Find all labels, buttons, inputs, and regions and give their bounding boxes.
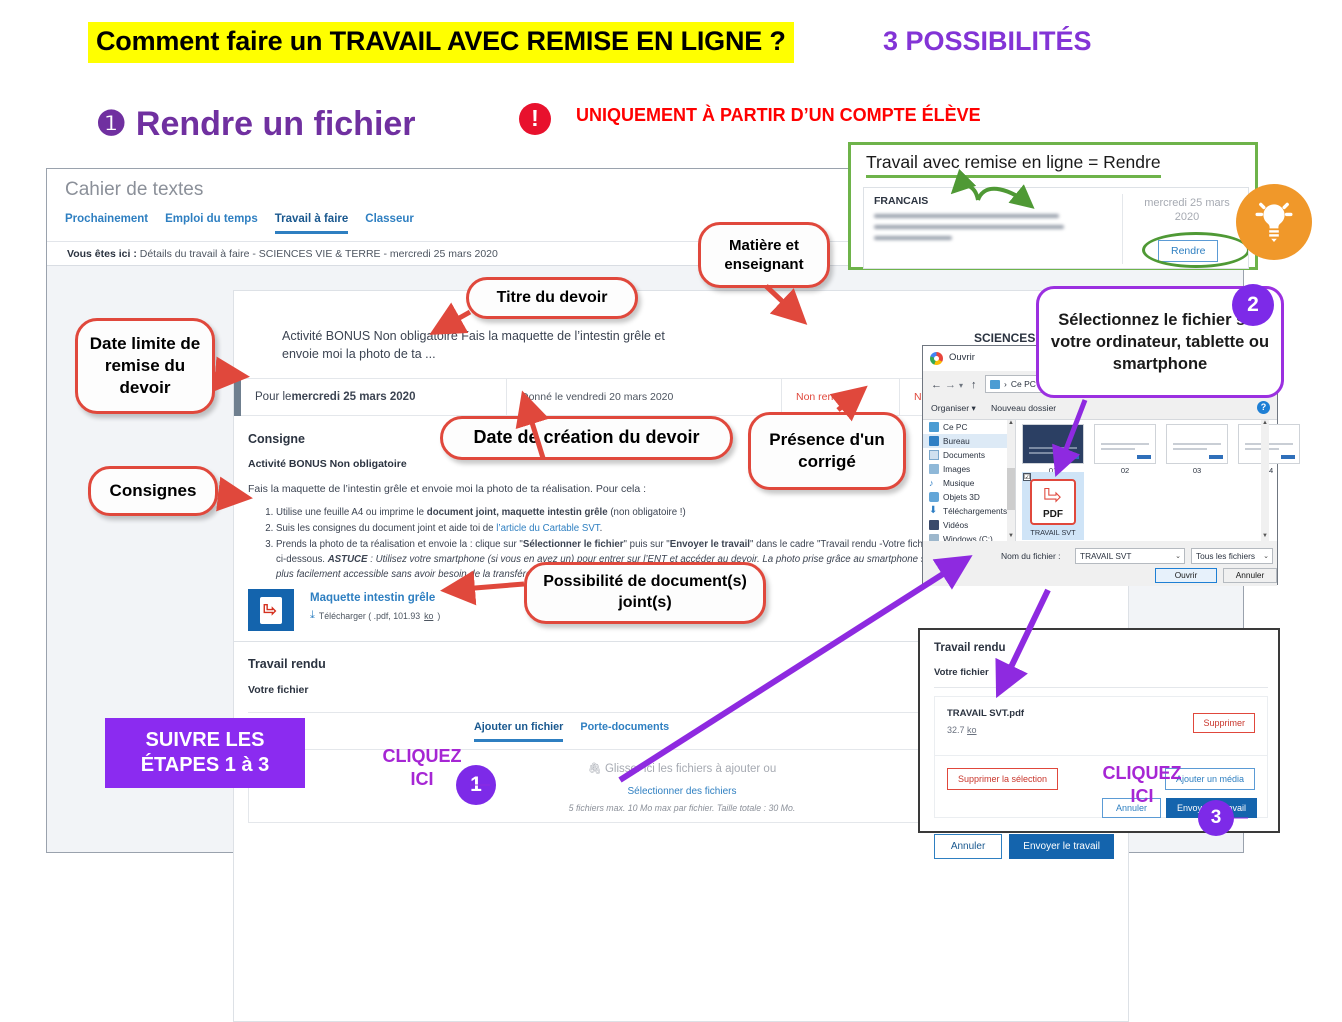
label: Vidéos: [943, 520, 968, 530]
label: Téléchargements: [943, 506, 1007, 516]
breadcrumb-path: Détails du travail à faire - SCIENCES VI…: [137, 248, 498, 260]
breadcrumb-label: Vous êtes ici :: [67, 248, 137, 260]
videos-icon: [929, 520, 939, 530]
consigne-item-2: Suis les consignes du document joint et …: [276, 521, 944, 536]
back-arrow-icon[interactable]: ←: [931, 379, 942, 391]
label: Musique: [943, 478, 974, 488]
documents-icon: [929, 450, 939, 460]
delete-selection-button[interactable]: Supprimer la sélection: [947, 768, 1058, 790]
dialog-body: Ce PC Bureau Documents Images ♪Musique O…: [923, 419, 1277, 541]
uploaded-file-size: 32.7 ko: [947, 725, 977, 735]
tab-ajouter-un-fichier[interactable]: Ajouter un fichier: [474, 721, 563, 742]
acrobat-glyph: ⏎: [1043, 484, 1061, 510]
images-icon: [929, 464, 939, 474]
address-sep: ›: [1004, 379, 1007, 389]
dialog-footer: Nom du fichier : TRAVAIL SVT ⌄ Tous les …: [923, 541, 1277, 586]
upload-tab-bar: Ajouter un fichier Porte-documents: [474, 721, 669, 742]
consigne-item-1: Utilise une feuille A4 ou imprime le doc…: [276, 505, 944, 520]
tree-item-videos[interactable]: Vidéos: [923, 518, 1015, 532]
suivre-etapes-box: SUIVRE LES ÉTAPES 1 à 3: [105, 718, 305, 788]
dialog-toolbar: Organiser ▾ Nouveau dossier ?: [923, 397, 1277, 419]
cancel-button[interactable]: Annuler: [1223, 568, 1277, 583]
thumbnail-row: 01 02 03 04: [1022, 424, 1300, 475]
callout-document-joint: Possibilité de document(s) joint(s): [524, 562, 766, 624]
label: Images: [943, 464, 970, 474]
due-date-cell: Pour le mercredi 25 mars 2020: [241, 378, 506, 416]
callout-consignes: Consignes: [88, 466, 218, 516]
ent-tab-bar: Prochainement Emploi du temps Travail à …: [65, 213, 414, 234]
filetype-value: Tous les fichiers: [1196, 551, 1255, 561]
computer-icon: [990, 380, 1000, 389]
t: Prends la photo de ta réalisation et env…: [276, 539, 523, 550]
desktop-icon: [929, 436, 939, 446]
chrome-icon: [930, 352, 943, 365]
help-icon[interactable]: ?: [1257, 401, 1270, 414]
attachment-meta: Maquette intestin grêle ⤓ Télécharger ( …: [310, 589, 440, 622]
thumbnail-caption: 04: [1238, 466, 1300, 475]
filename-input[interactable]: TRAVAIL SVT ⌄: [1075, 548, 1185, 564]
attachment-row[interactable]: Maquette intestin grêle ⤓ Télécharger ( …: [248, 589, 440, 631]
selected-file-row: ☑ ⏎ PDF TRAVAIL SVT: [1022, 472, 1084, 540]
cancel-button[interactable]: Annuler: [934, 834, 1002, 859]
tree-item-bureau[interactable]: Bureau: [923, 434, 1015, 448]
lightbulb-icon: [1236, 184, 1312, 260]
forward-arrow-icon[interactable]: →: [945, 379, 956, 391]
tree-item-ce-pc[interactable]: Ce PC: [923, 420, 1015, 434]
file-item-travail-svt[interactable]: ☑ ⏎ PDF TRAVAIL SVT: [1022, 472, 1084, 540]
uploaded-file-name: TRAVAIL SVT.pdf: [947, 708, 1024, 719]
organiser-menu[interactable]: Organiser ▾: [931, 403, 976, 414]
callout-date-limite: Date limite de remise du devoir: [75, 318, 215, 414]
cliquez-ici-label-1: CLIQUEZ ICI: [370, 745, 474, 790]
consigne-intro: Fais la maquette de l’intestin grêle et …: [248, 483, 646, 495]
folder-tree: Ce PC Bureau Documents Images ♪Musique O…: [923, 420, 1015, 542]
tab-porte-documents[interactable]: Porte-documents: [580, 721, 669, 742]
paperclip-icon: 🖇: [588, 763, 602, 775]
size-unit: ko: [967, 725, 977, 735]
scroll-up-icon[interactable]: ▲: [1261, 420, 1269, 426]
step-badge-2: 2: [1232, 284, 1274, 326]
page-title-row: Comment faire un TRAVAIL AVEC REMISE EN …: [88, 22, 1268, 68]
pdf-file-icon: [248, 589, 294, 631]
green-box-label: Travail avec remise en ligne = Rendre: [866, 152, 1161, 178]
tree-item-objets-3d[interactable]: Objets 3D: [923, 490, 1015, 504]
devoir-title: Activité BONUS Non obligatoire Fais la m…: [282, 327, 672, 363]
panel-heading: Travail rendu: [934, 642, 1006, 654]
cartable-svt-link[interactable]: l’article du Cartable SVT: [496, 523, 599, 534]
due-date: mercredi 25 mars 2020: [291, 391, 415, 403]
t: .: [600, 523, 603, 534]
cliquez-ici-label-3: CLIQUEZ ICI: [1090, 762, 1194, 807]
travail-rendu-heading: Travail rendu: [248, 657, 326, 671]
nouveau-dossier-button[interactable]: Nouveau dossier: [991, 403, 1056, 413]
computer-icon: [929, 422, 939, 432]
mini-devoir-card: FRANCAIS mercredi 25 mars 2020 Rendre: [863, 187, 1249, 269]
pdf-badge: PDF: [1043, 509, 1063, 520]
blurred-text-placeholder: [874, 214, 1069, 247]
t: Sélectionner le fichier: [523, 539, 624, 550]
dialog-title: Ouvrir: [949, 352, 975, 363]
tab-classeur[interactable]: Classeur: [365, 213, 414, 234]
callout-date-creation: Date de création du devoir: [440, 416, 733, 460]
t: (non obligatoire !): [608, 507, 686, 518]
label: Objets 3D: [943, 492, 980, 502]
mini-date: mercredi 25 mars 2020: [1132, 196, 1242, 225]
tree-item-documents[interactable]: Documents: [923, 448, 1015, 462]
pdf-file-icon: ⏎ PDF: [1030, 479, 1076, 525]
filetype-select[interactable]: Tous les fichiers ⌄: [1191, 548, 1273, 564]
app-title: Cahier de textes: [65, 179, 203, 201]
t: Utilise une feuille A4 ou imprime le: [276, 507, 427, 518]
tab-emploi-du-temps[interactable]: Emploi du temps: [165, 213, 258, 234]
download-icon: ⤓: [310, 609, 315, 622]
address-text: Ce PC: [1011, 379, 1036, 389]
delete-file-button[interactable]: Supprimer: [1193, 713, 1255, 733]
callout-matiere: Matière et enseignant: [698, 222, 830, 288]
divider: [934, 687, 1268, 688]
warning-text: UNIQUEMENT À PARTIR D’UN COMPTE ÉLÈVE: [576, 105, 981, 126]
page-title: Comment faire un TRAVAIL AVEC REMISE EN …: [88, 22, 794, 63]
file-thumbnail[interactable]: 02: [1094, 424, 1156, 475]
warning-icon: !: [519, 103, 551, 135]
objects3d-icon: [929, 492, 939, 502]
tree-item-musique[interactable]: ♪Musique: [923, 476, 1015, 490]
downloads-icon: ⬇: [929, 506, 939, 516]
t: " puis sur ": [624, 539, 670, 550]
download-label: Télécharger ( .pdf, 101.93: [319, 611, 420, 621]
file-thumbnail[interactable]: 01: [1022, 424, 1084, 475]
scroll-down-icon[interactable]: ▼: [1261, 533, 1269, 539]
download-unit: ko: [424, 611, 433, 621]
status-rendu: Non rendu: [781, 378, 899, 416]
thumbnail-caption: 02: [1094, 466, 1156, 475]
given-date-cell: Donné le vendredi 20 mars 2020: [506, 378, 781, 416]
label: Documents: [943, 450, 985, 460]
files-scrollbar[interactable]: [1261, 420, 1269, 542]
thumbnail-caption: 03: [1166, 466, 1228, 475]
attachment-name[interactable]: Maquette intestin grêle: [310, 592, 440, 604]
form-button-row: Annuler Envoyer le travail: [934, 834, 1114, 859]
step-badge-3: 3: [1198, 800, 1234, 836]
scroll-up-icon[interactable]: ▲: [1007, 420, 1015, 426]
green-annotation-box: Travail avec remise en ligne = Rendre FR…: [848, 142, 1258, 270]
tab-prochainement[interactable]: Prochainement: [65, 213, 148, 234]
tree-scrollbar-thumb[interactable]: [1007, 468, 1015, 510]
file-thumbnail[interactable]: 03: [1166, 424, 1228, 475]
download-suffix: ): [437, 611, 440, 621]
label: Bureau: [943, 436, 970, 446]
mini-subject: FRANCAIS: [874, 195, 928, 207]
meta-accent-bar: [234, 378, 241, 416]
label: Ce PC: [943, 422, 967, 432]
panel-subheading: Votre fichier: [934, 667, 989, 678]
astuce-label: ASTUCE: [328, 554, 368, 565]
consigne-heading: Consigne: [248, 432, 305, 446]
open-button[interactable]: Ouvrir: [1155, 568, 1217, 583]
chevron-down-icon[interactable]: ⌄: [1263, 552, 1272, 560]
page-title-accent: 3 POSSIBILITÉS: [883, 26, 1092, 57]
attachment-download[interactable]: ⤓ Télécharger ( .pdf, 101.93 ko ): [310, 609, 440, 622]
callout-corrige: Présence d'un corrigé: [748, 412, 906, 490]
uploaded-file-row: TRAVAIL SVT.pdf 32.7 ko Supprimer: [934, 696, 1268, 756]
tree-item-images[interactable]: Images: [923, 462, 1015, 476]
t: document joint, maquette intestin grêle: [427, 507, 608, 518]
size-value: 32.7: [947, 725, 967, 735]
chevron-down-icon[interactable]: ▾: [959, 381, 963, 390]
dropzone-text: Glisser ici les fichiers à ajouter ou: [605, 763, 776, 775]
submit-work-button[interactable]: Envoyer le travail: [1009, 834, 1114, 859]
tree-item-telechargements[interactable]: ⬇Téléchargements: [923, 504, 1015, 518]
file-thumbnail[interactable]: 04: [1238, 424, 1300, 475]
file-caption: TRAVAIL SVT: [1025, 528, 1081, 537]
due-prefix: Pour le: [255, 391, 291, 403]
travail-rendu-subheading: Votre fichier: [248, 684, 309, 696]
callout-titre-devoir: Titre du devoir: [466, 277, 638, 319]
filename-value: TRAVAIL SVT: [1080, 551, 1131, 561]
highlight-ellipse: [1142, 232, 1249, 268]
chevron-down-icon[interactable]: ⌄: [1175, 552, 1184, 560]
music-icon: ♪: [929, 478, 939, 488]
tab-travail-a-faire[interactable]: Travail à faire: [275, 213, 349, 234]
file-list: 01 02 03 04 ☑ ⏎: [1015, 420, 1269, 542]
section-heading-step1: ❶ Rendre un fichier: [96, 104, 416, 144]
up-arrow-icon[interactable]: ↑: [971, 379, 977, 391]
t: Envoyer le travail: [670, 539, 750, 550]
t: Suis les consignes du document joint et …: [276, 523, 496, 534]
consigne-subheading: Activité BONUS Non obligatoire: [248, 458, 407, 470]
divider: [1122, 194, 1123, 264]
scroll-down-icon[interactable]: ▼: [1007, 533, 1015, 539]
filename-label: Nom du fichier :: [1001, 551, 1061, 561]
